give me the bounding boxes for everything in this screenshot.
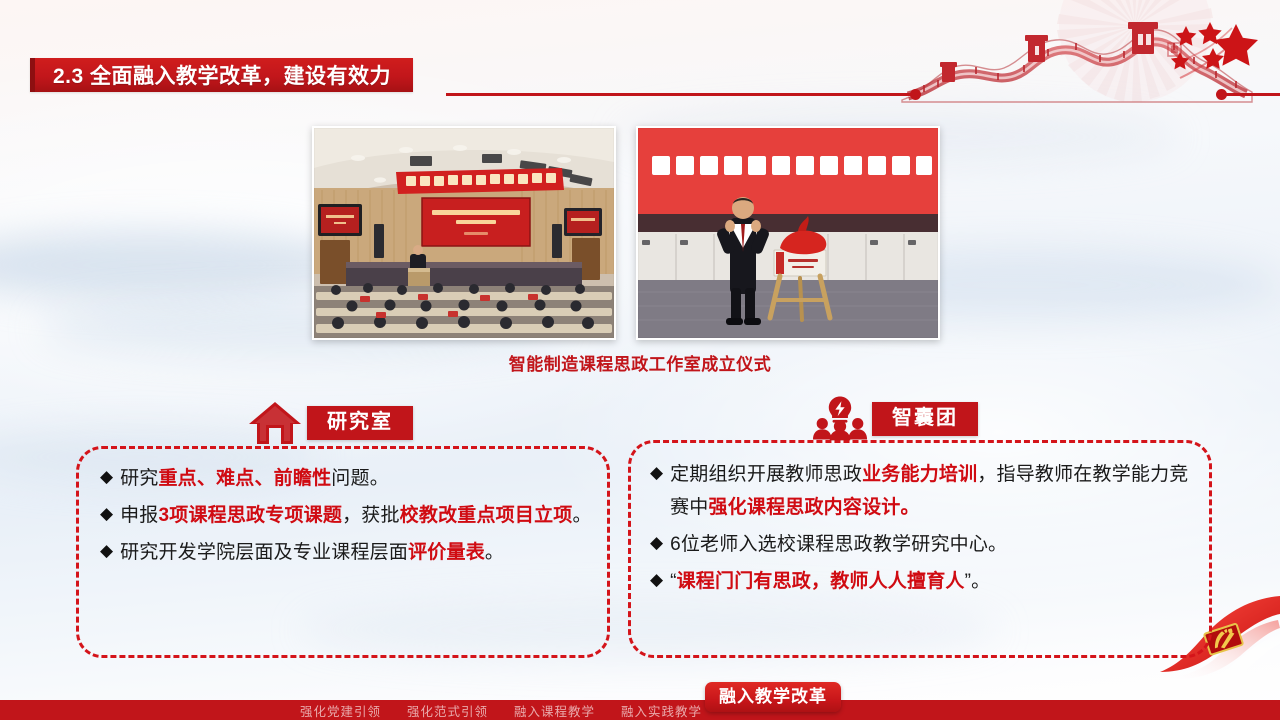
bullet-text: 6位老师入选校课程思政教学研究中心。 (670, 528, 1007, 561)
bullet-text: “课程门门有思政，教师人人擅育人”。 (670, 565, 990, 598)
bullet-list-research-room: ◆研究重点、难点、前瞻性问题。◆申报3项课程思政专项课题，获批校教改重点项目立项… (100, 462, 592, 573)
house-icon (247, 400, 303, 446)
slide-title-bar: 2.3 全面融入教学改革，建设有效力 (30, 58, 413, 92)
diamond-bullet-icon: ◆ (100, 462, 113, 492)
cloud-band (0, 230, 360, 300)
slide-canvas: 2.3 全面融入教学改革，建设有效力 (0, 0, 1280, 720)
diamond-bullet-icon: ◆ (650, 528, 663, 558)
footer-nav: 强化党建引领强化范式引领融入课程教学融入实践教学 (0, 700, 1280, 720)
badge-label: 研究室 (307, 406, 413, 440)
badge-think-tank: 智囊团 (812, 396, 978, 442)
bullet-item: ◆研究开发学院层面及专业课程层面评价量表。 (100, 536, 592, 569)
photo-caption: 智能制造课程思政工作室成立仪式 (0, 350, 1280, 375)
lightbulb-people-icon (812, 396, 868, 442)
bullet-text: 定期组织开展教师思政业务能力培训，指导教师在教学能力竞赛中强化课程思政内容设计。 (670, 458, 1196, 524)
photo-group (312, 126, 942, 336)
bullet-item: ◆ “课程门门有思政，教师人人擅育人”。 (650, 565, 1196, 598)
bullet-text: 研究开发学院层面及专业课程层面评价量表。 (120, 536, 504, 569)
footer-nav-item-3[interactable]: 融入实践教学 (621, 701, 702, 720)
bullet-item: ◆研究重点、难点、前瞻性问题。 (100, 462, 592, 495)
bullet-item: ◆申报3项课程思政专项课题，获批校教改重点项目立项。 (100, 499, 592, 532)
title-rule-right (1224, 93, 1280, 96)
footer-nav-item-2[interactable]: 融入课程教学 (514, 701, 595, 720)
badge-label: 智囊团 (872, 402, 978, 436)
bullet-item: ◆ 6位老师入选校课程思政教学研究中心。 (650, 528, 1196, 561)
auditorium-ceremony-photo (312, 126, 616, 340)
footer-active-tab[interactable]: 融入教学改革 (705, 682, 841, 712)
diamond-bullet-icon: ◆ (650, 458, 663, 488)
page-title: 2.3 全面融入教学改革，建设有效力 (53, 60, 391, 90)
bullet-list-think-tank: ◆定期组织开展教师思政业务能力培训，指导教师在教学能力竞赛中强化课程思政内容设计… (650, 458, 1196, 602)
bullet-item: ◆定期组织开展教师思政业务能力培训，指导教师在教学能力竞赛中强化课程思政内容设计… (650, 458, 1196, 524)
rule-dot-right (1216, 89, 1227, 100)
diamond-bullet-icon: ◆ (100, 499, 113, 529)
bullet-text: 研究重点、难点、前瞻性问题。 (120, 462, 389, 495)
diamond-bullet-icon: ◆ (100, 536, 113, 566)
bullet-text: 申报3项课程思政专项课题，获批校教改重点项目立项。 (120, 499, 592, 532)
footer-nav-item-0[interactable]: 强化党建引领 (300, 701, 381, 720)
title-rule-left (446, 93, 916, 96)
rule-dot-left (910, 89, 921, 100)
diamond-bullet-icon: ◆ (650, 565, 663, 595)
footer-nav-item-1[interactable]: 强化范式引领 (407, 701, 488, 720)
plaque-unveiling-photo (636, 126, 940, 340)
badge-research-room: 研究室 (247, 400, 413, 446)
